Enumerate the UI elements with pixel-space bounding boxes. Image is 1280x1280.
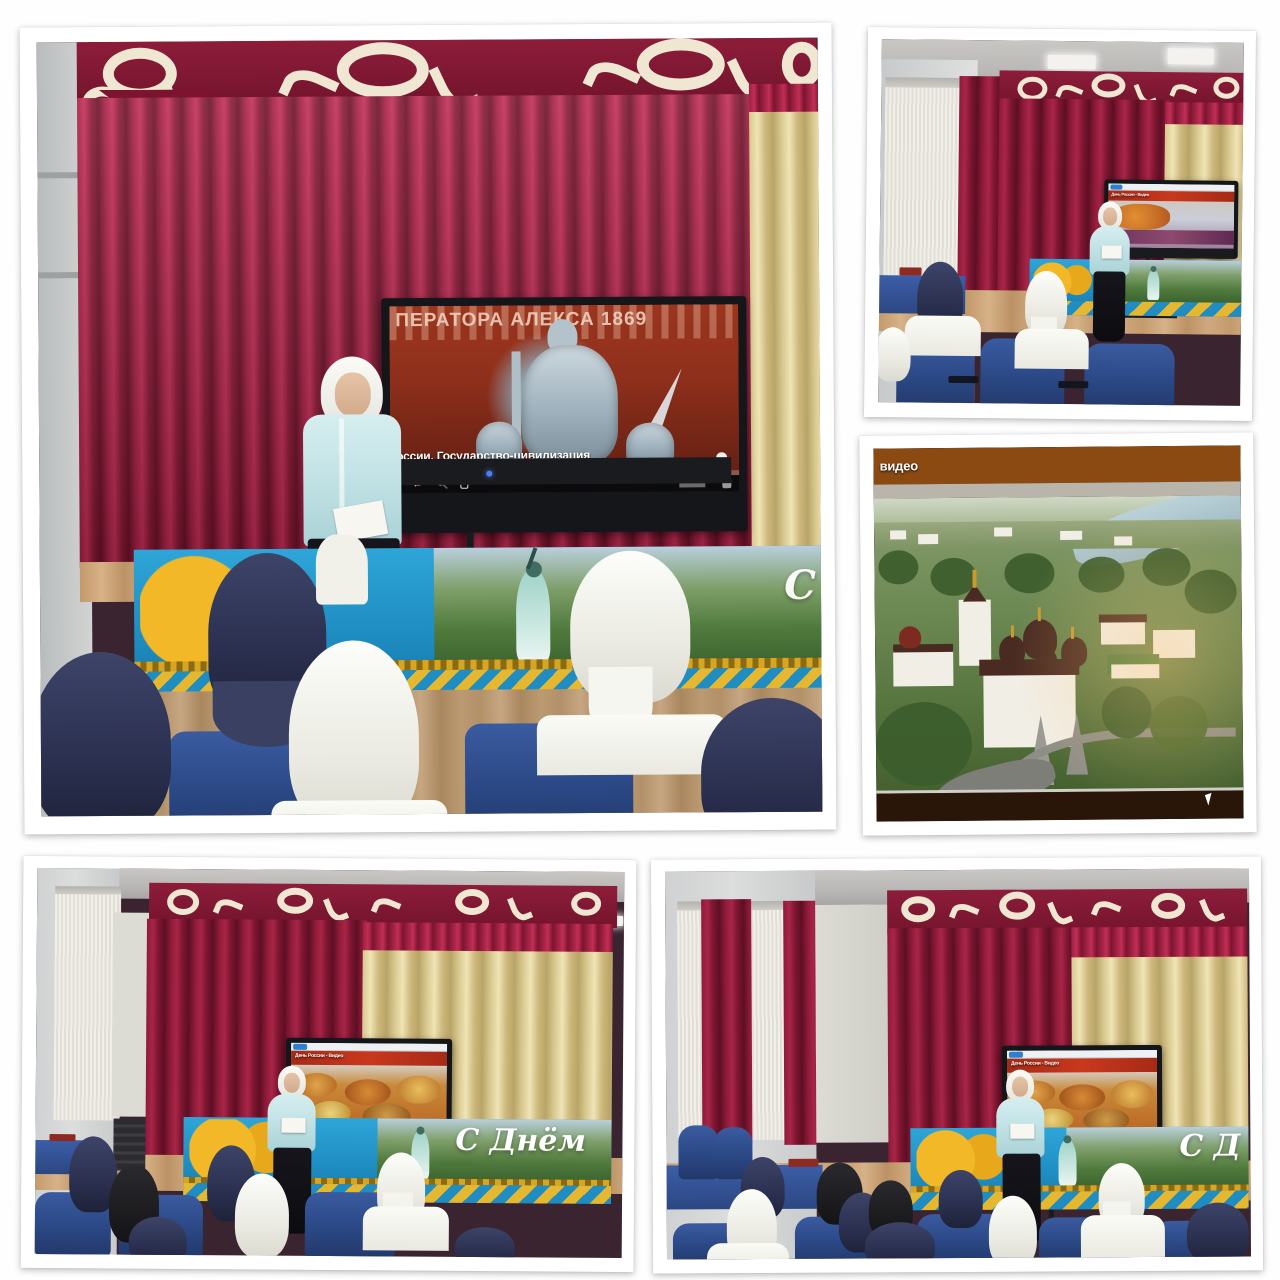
banner-greeting: С Д: [1179, 1129, 1240, 1164]
photo-mid-right[interactable]: видео: [859, 432, 1256, 835]
photo-collage: ПЕРАТОРА АЛЕКСА 1869 оссии. Государство-…: [0, 0, 1280, 1280]
photo-bottom-right[interactable]: День России - Видео: [651, 856, 1263, 1273]
photo-bottom-left[interactable]: День России - Видео: [21, 856, 637, 1272]
photo-main[interactable]: ПЕРАТОРА АЛЕКСА 1869 оссии. Государство-…: [20, 23, 837, 835]
video-label: видео: [879, 458, 918, 473]
interactive-whiteboard[interactable]: ПЕРАТОРА АЛЕКСА 1869 оссии. Государство-…: [381, 296, 747, 533]
banner-greeting: С: [784, 562, 816, 609]
slide-overlay-text: ПЕРАТОРА АЛЕКСА 1869: [395, 309, 647, 333]
photo-top-right[interactable]: День России - Видео: [864, 27, 1256, 421]
banner-greeting: С Днём: [455, 1123, 586, 1159]
power-led-icon: [486, 471, 492, 477]
